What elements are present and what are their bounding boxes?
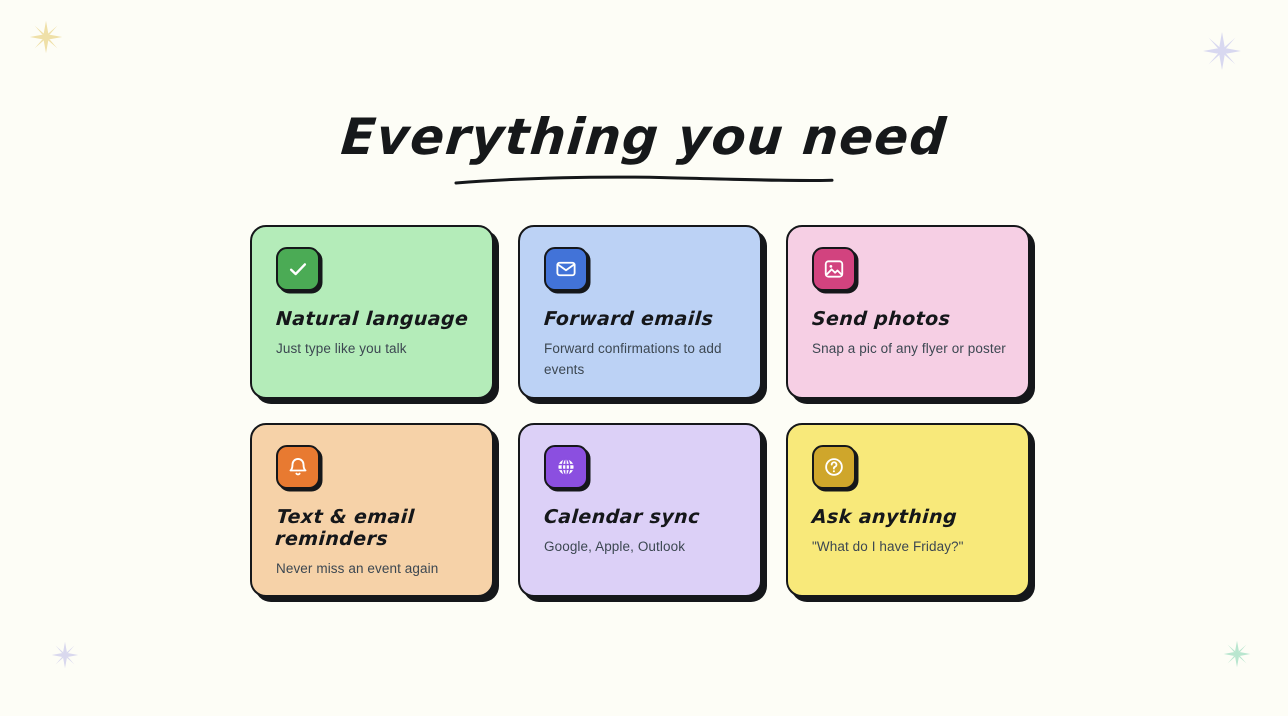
sparkle-bottom-right (1223, 640, 1251, 668)
feature-card-description: Google, Apple, Outlook (544, 537, 738, 558)
globe-icon (544, 445, 588, 489)
feature-card-description: Never miss an event again (276, 559, 470, 580)
feature-card-description: Just type like you talk (276, 339, 470, 360)
feature-card-title: Forward emails (543, 308, 739, 330)
page-heading: Everything you need (0, 112, 1288, 162)
feature-card-title: Calendar sync (543, 506, 739, 528)
feature-card-title: Send photos (811, 308, 1007, 330)
feature-card-calendar-sync[interactable]: Calendar syncGoogle, Apple, Outlook (518, 423, 762, 597)
feature-card-grid: Natural languageJust type like you talkF… (250, 225, 1040, 597)
image-icon (812, 247, 856, 291)
feature-card-natural-language[interactable]: Natural languageJust type like you talk (250, 225, 494, 399)
feature-card-description: Snap a pic of any flyer or poster (812, 339, 1006, 360)
sparkle-top-left (29, 20, 63, 54)
sparkle-bottom-left (51, 641, 79, 669)
feature-card-send-photos[interactable]: Send photosSnap a pic of any flyer or po… (786, 225, 1030, 399)
question-circle-icon (812, 445, 856, 489)
feature-card-description: Forward confirmations to add events (544, 339, 738, 381)
envelope-icon (544, 247, 588, 291)
feature-card-title: Ask anything (811, 506, 1007, 528)
feature-card-text-email-reminders[interactable]: Text & email remindersNever miss an even… (250, 423, 494, 597)
bell-icon (276, 445, 320, 489)
feature-card-title: Natural language (275, 308, 471, 330)
feature-card-title: Text & email reminders (274, 506, 471, 550)
title-underline-doodle (454, 174, 834, 188)
feature-card-description: "What do I have Friday?" (812, 537, 1006, 558)
page-root: Everything you need Natural languageJust… (0, 0, 1288, 716)
feature-card-ask-anything[interactable]: Ask anything"What do I have Friday?" (786, 423, 1030, 597)
feature-card-forward-emails[interactable]: Forward emailsForward confirmations to a… (518, 225, 762, 399)
sparkle-top-right (1202, 31, 1242, 71)
page-title: Everything you need (0, 112, 1288, 162)
check-icon (276, 247, 320, 291)
